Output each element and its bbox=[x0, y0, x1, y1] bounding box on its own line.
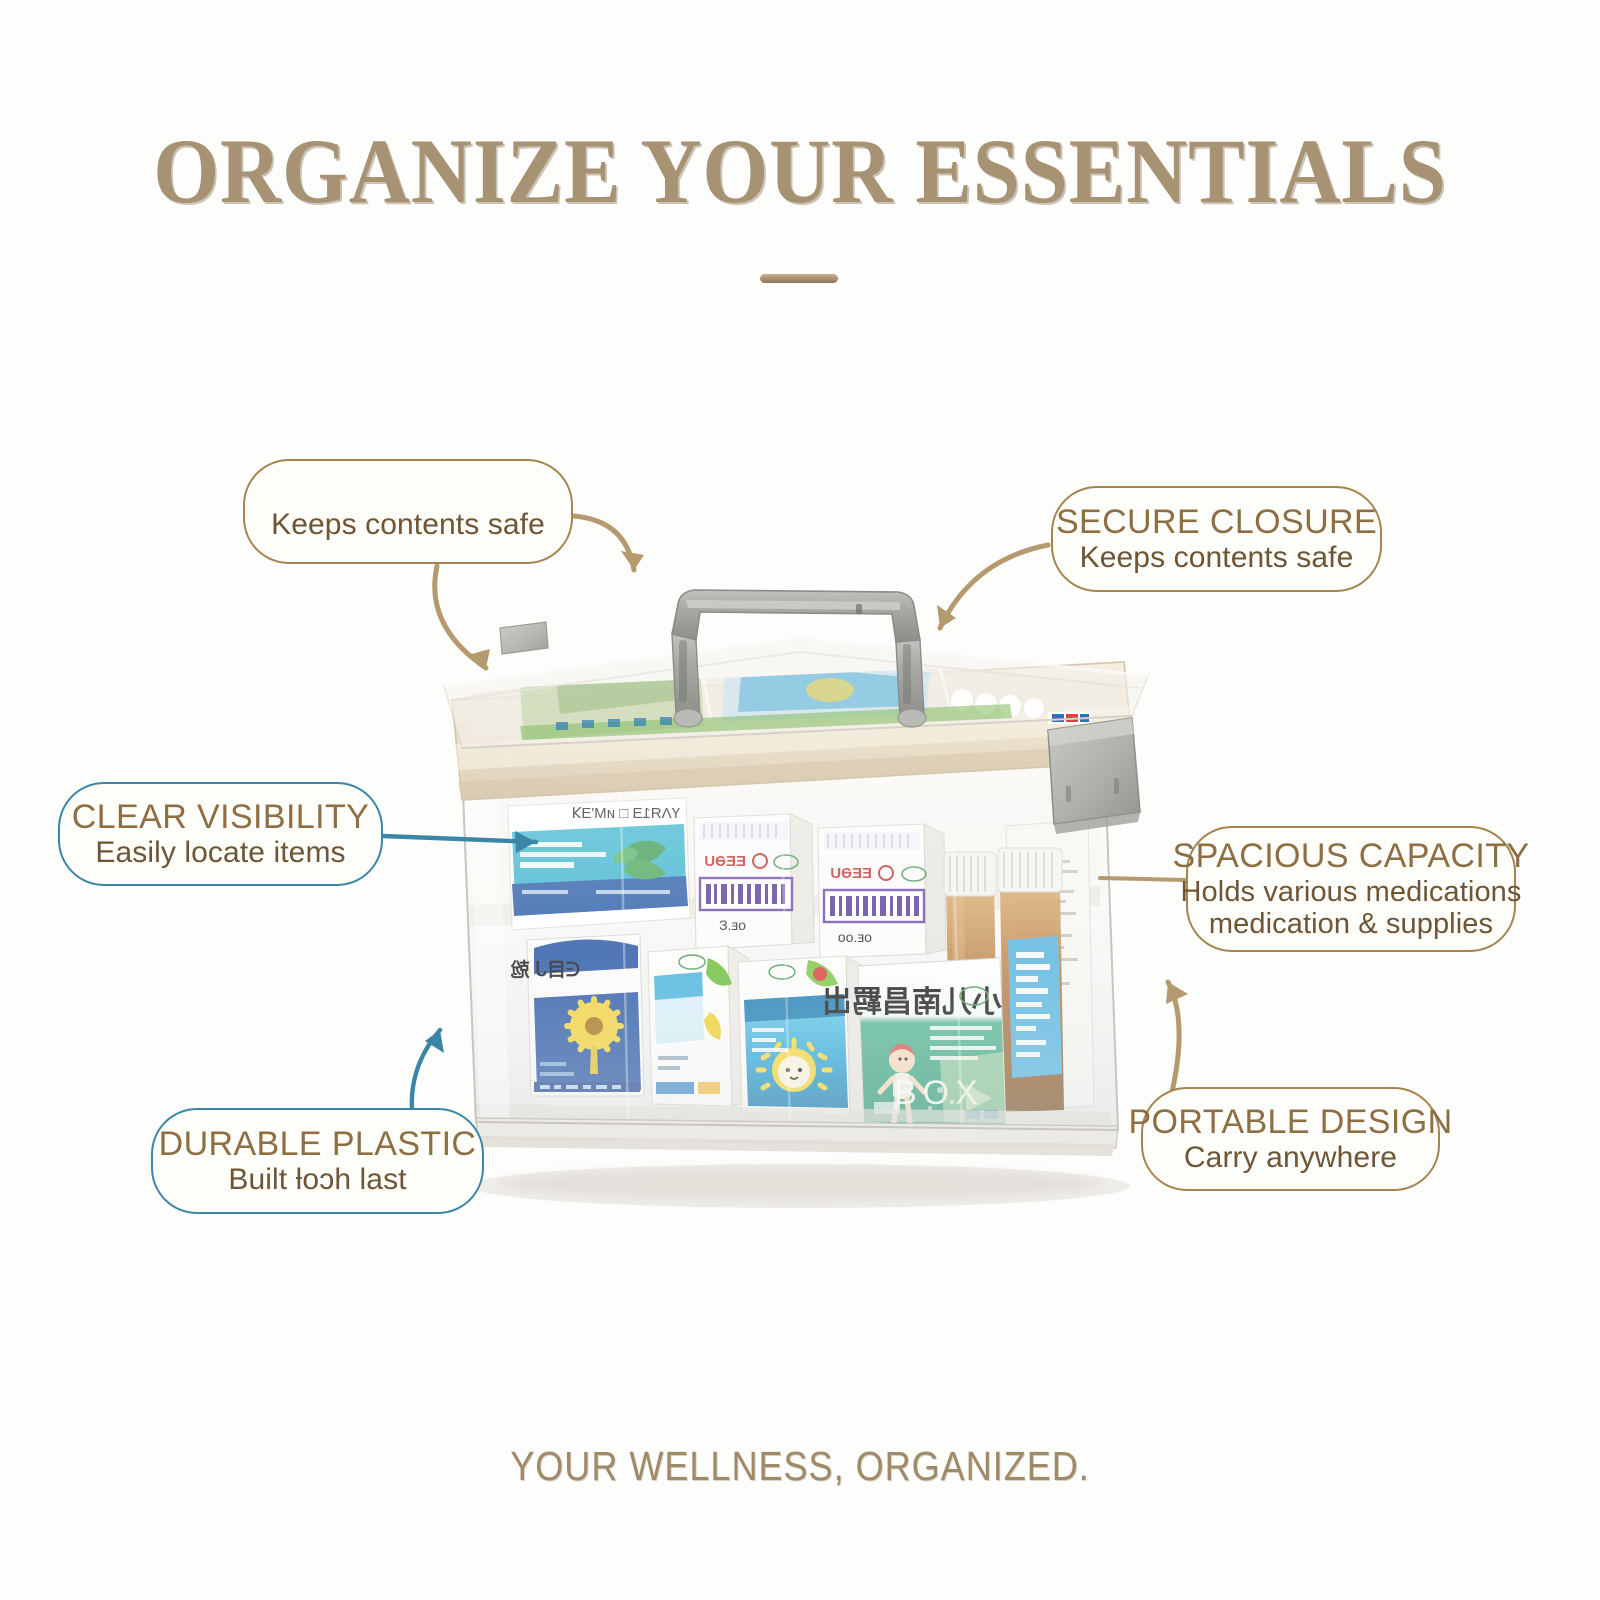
arrow-lid-note-secondary bbox=[573, 516, 634, 570]
callout-portable-design-title: PORTABLE DESIGN bbox=[1128, 1103, 1452, 1141]
callout-spacious-capacity-subtitle-2: medication & supplies bbox=[1209, 908, 1493, 940]
arrow-clear-visibility bbox=[383, 836, 536, 842]
callout-secure-closure[interactable]: SECURE CLOSURE Keeps contents safe bbox=[1051, 486, 1382, 592]
callout-secure-closure-title: SECURE CLOSURE bbox=[1056, 503, 1377, 541]
callout-durable-plastic[interactable]: DURABLE PLASTIC Built ƚoɔh last bbox=[151, 1108, 484, 1214]
callout-portable-design[interactable]: PORTABLE DESIGN Carry anywhere bbox=[1141, 1087, 1440, 1191]
callout-clear-visibility-title: CLEAR VISIBILITY bbox=[72, 798, 369, 836]
callout-lid-note[interactable]: Keeps contents safe bbox=[243, 459, 573, 564]
callout-clear-visibility-subtitle: Easily locate items bbox=[95, 836, 345, 870]
callout-spacious-capacity-subtitle: Holds various medications bbox=[1181, 876, 1522, 908]
callout-clear-visibility[interactable]: CLEAR VISIBILITY Easily locate items bbox=[58, 782, 383, 886]
callout-spacious-capacity-title: SPACIOUS CAPACITY bbox=[1173, 837, 1530, 875]
callout-lid-note-subtitle: Keeps contents safe bbox=[271, 508, 545, 542]
callout-portable-design-subtitle: Carry anywhere bbox=[1184, 1141, 1397, 1175]
callout-secure-closure-subtitle: Keeps contents safe bbox=[1080, 541, 1354, 575]
arrow-spacious-capacity bbox=[1100, 878, 1186, 880]
arrow-secure-closure bbox=[940, 545, 1048, 628]
callout-durable-plastic-subtitle: Built ƚoɔh last bbox=[228, 1163, 406, 1197]
infographic-canvas: ҮɅЯ1Ǝ □ ᴎM'Ǝꓘ bbox=[0, 0, 1600, 1600]
callout-durable-plastic-title: DURABLE PLASTIC bbox=[159, 1125, 477, 1163]
callout-spacious-capacity[interactable]: SPACIOUS CAPACITY Holds various medicati… bbox=[1186, 826, 1516, 952]
